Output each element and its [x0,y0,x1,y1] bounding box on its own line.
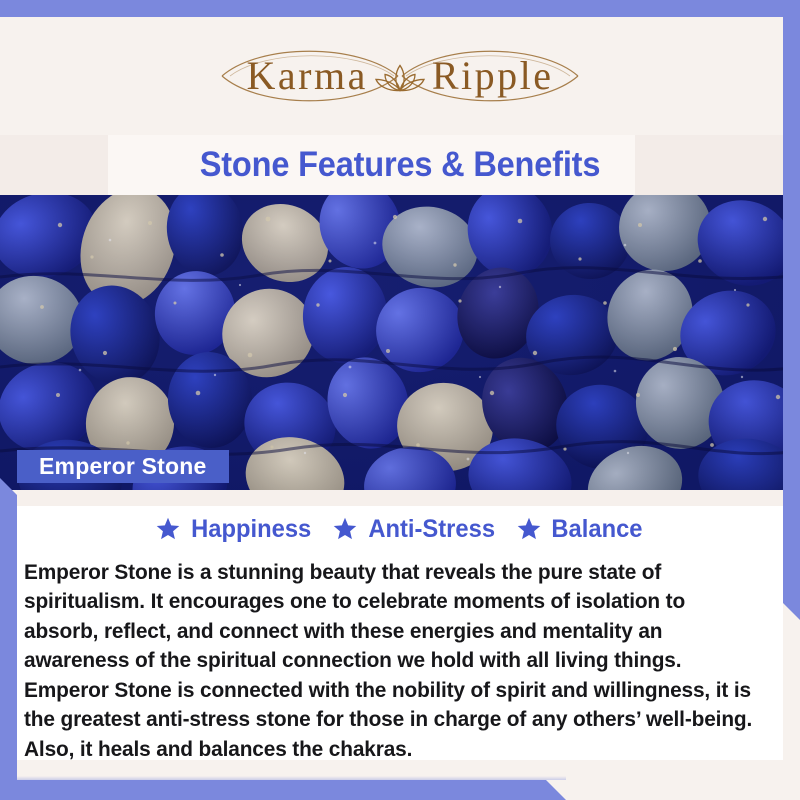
stone-photo [0,195,800,490]
stone-photo-illustration [0,195,800,490]
benefit-label: Happiness [191,517,311,542]
benefit-item: Anti-Stress [332,516,498,542]
stone-name-banner: Emperor Stone [17,450,229,483]
brand-name-left: Karma [247,56,368,96]
description-paragraph: Emperor Stone is a stunning beauty that … [24,558,761,676]
frame-bottom-shadow [0,776,566,780]
stone-name-label: Emperor Stone [39,455,206,478]
lotus-icon [374,59,426,95]
content-top-strip [17,490,783,506]
star-icon [155,516,181,542]
benefits-row: Happiness Anti-Stress Balance [17,516,783,542]
description-paragraph: Emperor Stone is connected with the nobi… [24,676,761,764]
page-title: Stone Features & Benefits [28,135,772,195]
star-icon [516,516,542,542]
poster-root: Karma Ripple Stone Features & Benefits E… [0,0,800,800]
benefit-item: Balance [516,516,645,542]
benefit-label: Balance [552,517,643,542]
star-icon [332,516,358,542]
brand-name-right: Ripple [432,56,554,96]
frame-border-left [0,478,17,800]
brand-logo: Karma Ripple [190,37,610,115]
brand-header: Karma Ripple [0,17,800,135]
benefit-item: Happiness [155,516,314,542]
frame-border-top [0,0,800,17]
frame-border-bottom [0,780,566,800]
description-block: Emperor Stone is a stunning beauty that … [24,558,784,764]
benefit-label: Anti-Stress [368,517,495,542]
frame-border-right [783,0,800,620]
